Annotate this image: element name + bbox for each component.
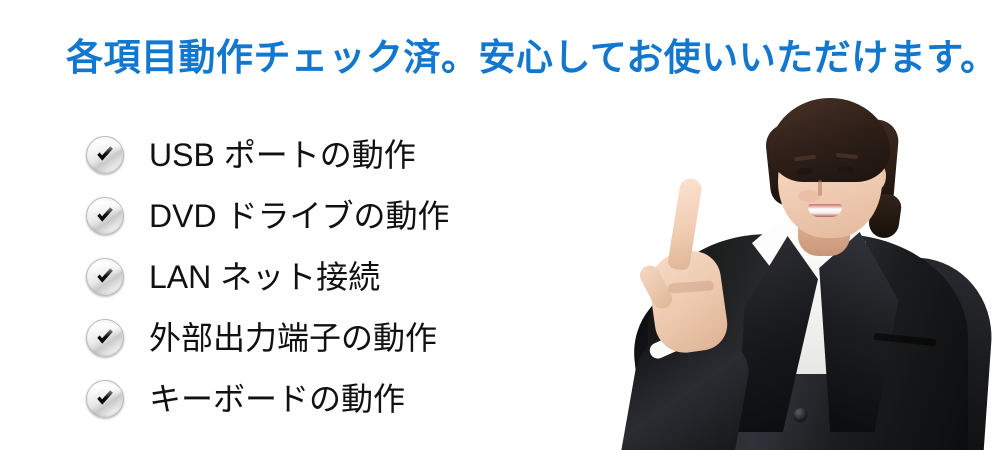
- list-item-label: 外部出力端子の動作: [149, 319, 437, 357]
- list-item-label: DVD ドライブの動作: [149, 197, 449, 235]
- list-item-label: USB ポートの動作: [149, 136, 416, 174]
- hair-top: [770, 98, 890, 182]
- check-mark-icon: [86, 197, 124, 235]
- check-mark-icon: [86, 136, 124, 174]
- businesswoman-photo: [612, 86, 1000, 450]
- cheek: [798, 190, 820, 202]
- check-mark-icon: [86, 380, 124, 418]
- list-item: DVD ドライブの動作: [86, 185, 606, 246]
- list-item: USB ポートの動作: [86, 124, 606, 185]
- check-mark-icon: [86, 258, 124, 296]
- list-item-label: キーボードの動作: [149, 380, 405, 418]
- list-item: キーボードの動作: [86, 368, 606, 429]
- page-title: 各項目動作チェック済。安心してお使いいただけます。: [66, 36, 966, 80]
- list-item: LAN ネット接続: [86, 246, 606, 307]
- feature-check-list: USB ポートの動作 DVD ドライブの動作 LAN ネット接続: [86, 124, 606, 429]
- suit-button: [794, 408, 807, 421]
- list-item: 外部出力端子の動作: [86, 307, 606, 368]
- product-check-banner: 各項目動作チェック済。安心してお使いいただけます。 USB ポートの動作 DVD…: [0, 0, 1000, 450]
- smiling-mouth: [808, 204, 842, 217]
- check-mark-icon: [86, 319, 124, 357]
- list-item-label: LAN ネット接続: [149, 258, 380, 296]
